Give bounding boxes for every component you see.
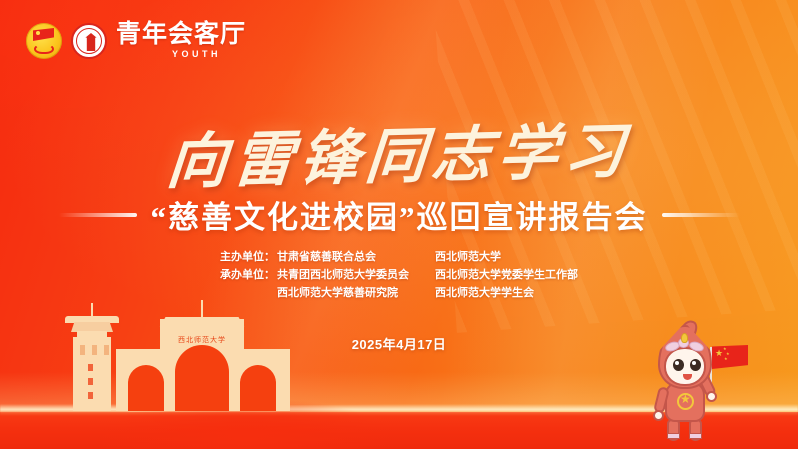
tower-spire [91, 303, 93, 316]
flag-star-small: ★ [724, 356, 728, 361]
organizer-value: 西北师范大学党委学生工作部 [435, 265, 578, 283]
university-seal-icon [71, 23, 107, 59]
poster-title: 向雷锋同志学习 [0, 98, 798, 204]
seal-building-glyph [84, 33, 98, 51]
organizer-label [220, 283, 277, 301]
organizer-value: 西北师范大学 [435, 247, 578, 265]
mascot-mouth [683, 374, 692, 380]
organizer-label: 承办单位： [220, 265, 277, 283]
tower-window [92, 345, 97, 355]
flower-petal [688, 340, 705, 353]
mascot-chest-star-badge [677, 393, 694, 410]
organizer-label: 主办单位： [220, 247, 277, 265]
gate-flagpole [201, 300, 203, 317]
subtitle-rule-left [59, 213, 137, 217]
campus-silhouette: 西北师范大学 [40, 301, 290, 411]
organizer-value: 西北师范大学学生会 [435, 283, 578, 301]
flower-bud [681, 333, 688, 343]
organizer-value: 共青团西北师范大学委员会 [277, 265, 435, 283]
flag-star-large: ★ [715, 348, 723, 359]
mascot-figure: ★ ★ ★ ★ [640, 325, 735, 443]
communist-youth-league-emblem-icon [26, 23, 62, 59]
subtitle-rule-right [662, 213, 740, 217]
gate-inscription: 西北师范大学 [166, 335, 238, 345]
table-row: 西北师范大学慈善研究院 西北师范大学学生会 [220, 283, 578, 301]
mascot-hand-left [653, 410, 664, 421]
organizer-block: 主办单位： 甘肃省慈善联合总会 西北师范大学 承办单位： 共青团西北师范大学委员… [0, 247, 798, 301]
tower-roof [65, 316, 119, 323]
organizer-table: 主办单位： 甘肃省慈善联合总会 西北师范大学 承办单位： 共青团西北师范大学委员… [220, 247, 578, 301]
gate-arch-right [240, 365, 276, 411]
table-row: 承办单位： 共青团西北师范大学委员会 西北师范大学党委学生工作部 [220, 265, 578, 283]
organizer-value: 西北师范大学慈善研究院 [277, 283, 435, 301]
tower-slit [88, 378, 93, 385]
mascot-eye-right [690, 359, 701, 371]
wordmark-english: YOUTH [116, 49, 246, 60]
mascot-cuff-left [667, 433, 680, 439]
tower-slit [88, 392, 93, 399]
gate-cap [154, 317, 250, 327]
header-logo-group: 青年会客厅 YOUTH [26, 22, 246, 60]
subtitle-row: “慈善文化进校园”巡回宣讲报告会 [0, 192, 798, 237]
china-flag-icon: ★ ★ ★ ★ [712, 345, 748, 369]
tower-slit [88, 364, 93, 371]
emblem-flag-shape [33, 28, 54, 41]
table-row: 主办单位： 甘肃省慈善联合总会 西北师范大学 [220, 247, 578, 265]
organizer-value: 甘肃省慈善联合总会 [277, 247, 435, 265]
wordmark: 青年会客厅 YOUTH [116, 22, 246, 60]
tower-window [104, 345, 109, 355]
mascot-cuff-right [689, 433, 702, 439]
mascot-flower-ornament [667, 338, 703, 354]
emblem-ring-shape [34, 44, 54, 54]
gate-arch-left [128, 365, 164, 411]
mascot-eye-left [673, 359, 684, 371]
mascot-hand-right [706, 391, 717, 402]
wordmark-chinese: 青年会客厅 [116, 22, 246, 47]
poster-canvas: 青年会客厅 YOUTH 向雷锋同志学习 “慈善文化进校园”巡回宣讲报告会 主办单… [0, 0, 798, 449]
tower-window [80, 345, 85, 355]
poster-subtitle: “慈善文化进校园”巡回宣讲报告会 [151, 192, 648, 237]
gate-arch-center [175, 345, 229, 411]
